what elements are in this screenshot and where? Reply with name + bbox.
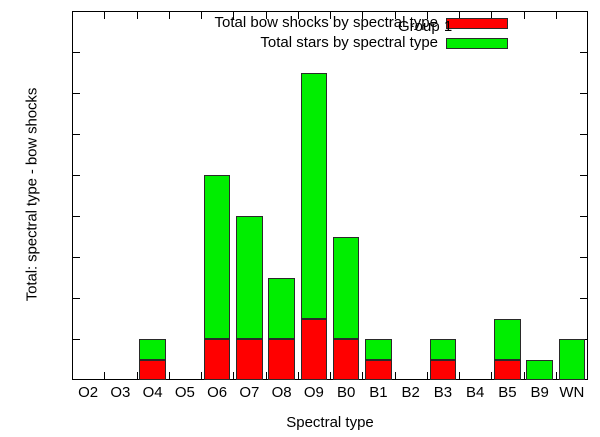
- x-axis-title: Spectral type: [72, 414, 588, 431]
- legend-entry-stars: Total stars by spectral type: [170, 34, 582, 54]
- x-tick-mark: [395, 372, 396, 380]
- x-tick-label: O9: [298, 385, 330, 402]
- x-tick-mark: [459, 372, 460, 380]
- bar-segment-stars: [559, 339, 585, 380]
- y-tick-mark: [72, 93, 80, 94]
- y-tick-mark: [72, 339, 80, 340]
- x-tick-label: B5: [491, 385, 523, 402]
- x-tick-mark: [298, 372, 299, 380]
- x-tick-mark: [556, 372, 557, 380]
- x-tick-mark: [169, 372, 170, 380]
- x-tick-label: B4: [459, 385, 491, 402]
- x-tick-mark: [104, 372, 105, 380]
- bar-segment-stars: [204, 175, 230, 339]
- bar-segment-bow-shocks: [365, 360, 391, 381]
- x-tick-mark: [137, 372, 138, 380]
- y-tick-mark-right: [580, 257, 588, 258]
- bar-segment-stars: [365, 339, 391, 360]
- y-tick-mark: [72, 134, 80, 135]
- bar-segment-stars: [301, 73, 327, 319]
- bar-segment-bow-shocks: [236, 339, 262, 380]
- bar-chart: Total: spectral type - bow shocks 024681…: [0, 0, 600, 437]
- x-tick-label: B1: [362, 385, 394, 402]
- x-tick-mark-top: [104, 11, 105, 19]
- y-axis-title: Total: spectral type - bow shocks: [24, 45, 41, 345]
- x-tick-label: O2: [72, 385, 104, 402]
- legend-label-stars: Total stars by spectral type: [260, 34, 438, 51]
- legend-swatch-bow-shocks: [446, 18, 508, 29]
- x-tick-label: B0: [330, 385, 362, 402]
- y-tick-mark: [72, 52, 80, 53]
- x-tick-label: O7: [233, 385, 265, 402]
- x-tick-mark: [233, 372, 234, 380]
- bar-segment-stars: [333, 237, 359, 340]
- x-tick-label: B2: [395, 385, 427, 402]
- y-tick-mark: [72, 175, 80, 176]
- bar-segment-stars: [268, 278, 294, 340]
- y-tick-mark-right: [580, 298, 588, 299]
- bar-segment-bow-shocks: [268, 339, 294, 380]
- x-tick-label: O3: [104, 385, 136, 402]
- y-tick-mark: [72, 298, 80, 299]
- x-tick-label: O5: [169, 385, 201, 402]
- bar-segment-bow-shocks: [139, 360, 165, 381]
- y-tick-mark-right: [580, 175, 588, 176]
- y-tick-mark: [72, 257, 80, 258]
- x-tick-label: B3: [427, 385, 459, 402]
- x-tick-mark: [362, 372, 363, 380]
- x-tick-mark: [266, 372, 267, 380]
- bar-segment-stars: [236, 216, 262, 339]
- x-tick-label: WN: [556, 385, 588, 402]
- legend-entry-bow-shocks: Total bow shocks by spectral type: [170, 14, 582, 34]
- x-tick-label: B9: [524, 385, 556, 402]
- x-tick-mark: [491, 372, 492, 380]
- y-tick-mark-right: [580, 93, 588, 94]
- x-tick-mark: [201, 372, 202, 380]
- bar-segment-stars: [494, 319, 520, 360]
- x-tick-label: O4: [137, 385, 169, 402]
- y-tick-mark-right: [580, 216, 588, 217]
- bar-segment-bow-shocks: [494, 360, 520, 381]
- chart-legend: Total bow shocks by spectral type Total …: [170, 14, 582, 54]
- x-tick-label: O6: [201, 385, 233, 402]
- bar-segment-bow-shocks: [204, 339, 230, 380]
- x-tick-mark: [330, 372, 331, 380]
- x-tick-mark-top: [137, 11, 138, 19]
- x-tick-mark: [524, 372, 525, 380]
- y-tick-mark: [72, 216, 80, 217]
- x-tick-label: O8: [266, 385, 298, 402]
- bar-segment-stars: [139, 339, 165, 360]
- bar-segment-bow-shocks: [430, 360, 456, 381]
- bar-segment-stars: [526, 360, 552, 381]
- legend-swatch-stars: [446, 38, 508, 49]
- y-tick-mark-right: [580, 134, 588, 135]
- x-tick-mark: [427, 372, 428, 380]
- bar-segment-bow-shocks: [301, 319, 327, 381]
- legend-group-annotation: Group 1: [398, 18, 452, 35]
- bar-segment-stars: [430, 339, 456, 360]
- bar-segment-bow-shocks: [333, 339, 359, 380]
